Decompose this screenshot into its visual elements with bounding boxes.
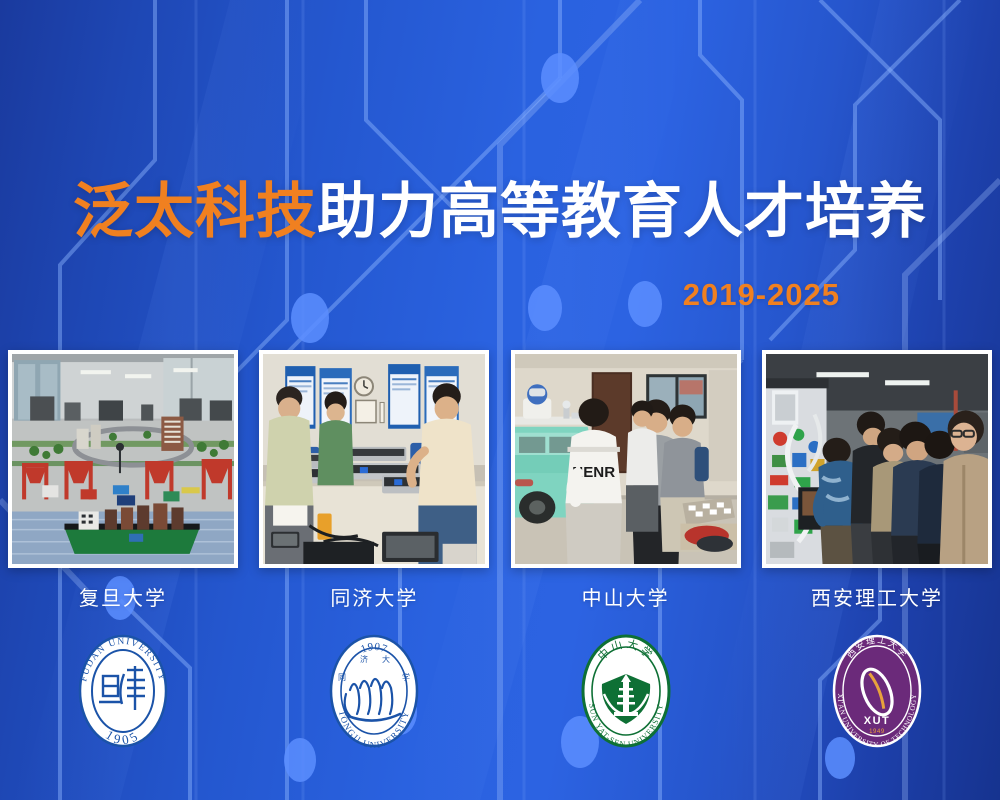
fudan-university-logo: FUDAN UNIVERSITY 1905 bbox=[71, 632, 175, 750]
logo-cell-xut: XI'AN UNIVERSITY OF TECHNOLOGY 西安理工大学 XU… bbox=[762, 632, 992, 750]
svg-text:同: 同 bbox=[338, 673, 346, 682]
xut-industrial-equipment-visit-photo bbox=[766, 354, 988, 564]
caption-tongji: 同济大学 bbox=[259, 582, 489, 611]
tongji-automation-lab-photo bbox=[263, 354, 485, 564]
poster-canvas: 泛太科技助力高等教育人才培养 2019-2025 bbox=[0, 0, 1000, 800]
photo-card-sysu[interactable]: NENR bbox=[511, 350, 741, 568]
photo-card-xut[interactable] bbox=[762, 350, 992, 568]
caption-xut: 西安理工大学 bbox=[762, 582, 992, 611]
svg-text:XUT: XUT bbox=[864, 715, 891, 727]
title-accent-text: 泛太科技 bbox=[73, 178, 317, 245]
photo-gallery-row: NENR bbox=[0, 350, 1000, 568]
title-block: 泛太科技助力高等教育人才培养 bbox=[0, 178, 1000, 245]
svg-text:1949: 1949 bbox=[869, 729, 885, 735]
sun-yat-sen-university-logo: SUN YAT-SEN UNIVERSITY 中山大学 bbox=[574, 632, 678, 750]
photo-card-fudan[interactable] bbox=[8, 350, 238, 568]
caption-sysu: 中山大学 bbox=[511, 582, 741, 611]
logo-cell-fudan: FUDAN UNIVERSITY 1905 bbox=[8, 632, 238, 750]
tongji-university-logo: TONGJI UNIVERSITY 1907 同济 大学 bbox=[322, 632, 426, 750]
caption-fudan: 复旦大学 bbox=[8, 582, 238, 611]
university-caption-row: 复旦大学 同济大学 中山大学 西安理工大学 bbox=[0, 582, 1000, 611]
fudan-port-city-scale-model-photo bbox=[12, 354, 234, 564]
logo-cell-sysu: SUN YAT-SEN UNIVERSITY 中山大学 bbox=[511, 632, 741, 750]
svg-text:大: 大 bbox=[382, 654, 390, 664]
sun-yat-sen-autonomous-vehicle-photo: NENR bbox=[515, 354, 737, 564]
title-rest-text: 助力高等教育人才培养 bbox=[317, 178, 927, 245]
university-logo-row: FUDAN UNIVERSITY 1905 bbox=[0, 632, 1000, 750]
photo-card-tongji[interactable] bbox=[259, 350, 489, 568]
svg-text:济: 济 bbox=[360, 654, 368, 664]
xian-university-of-technology-logo: XI'AN UNIVERSITY OF TECHNOLOGY 西安理工大学 XU… bbox=[825, 632, 929, 750]
page-title: 泛太科技助力高等教育人才培养 bbox=[0, 178, 1000, 245]
svg-text:学: 学 bbox=[402, 672, 410, 682]
logo-cell-tongji: TONGJI UNIVERSITY 1907 同济 大学 bbox=[259, 632, 489, 750]
date-range-subtitle: 2019-2025 bbox=[683, 277, 840, 313]
